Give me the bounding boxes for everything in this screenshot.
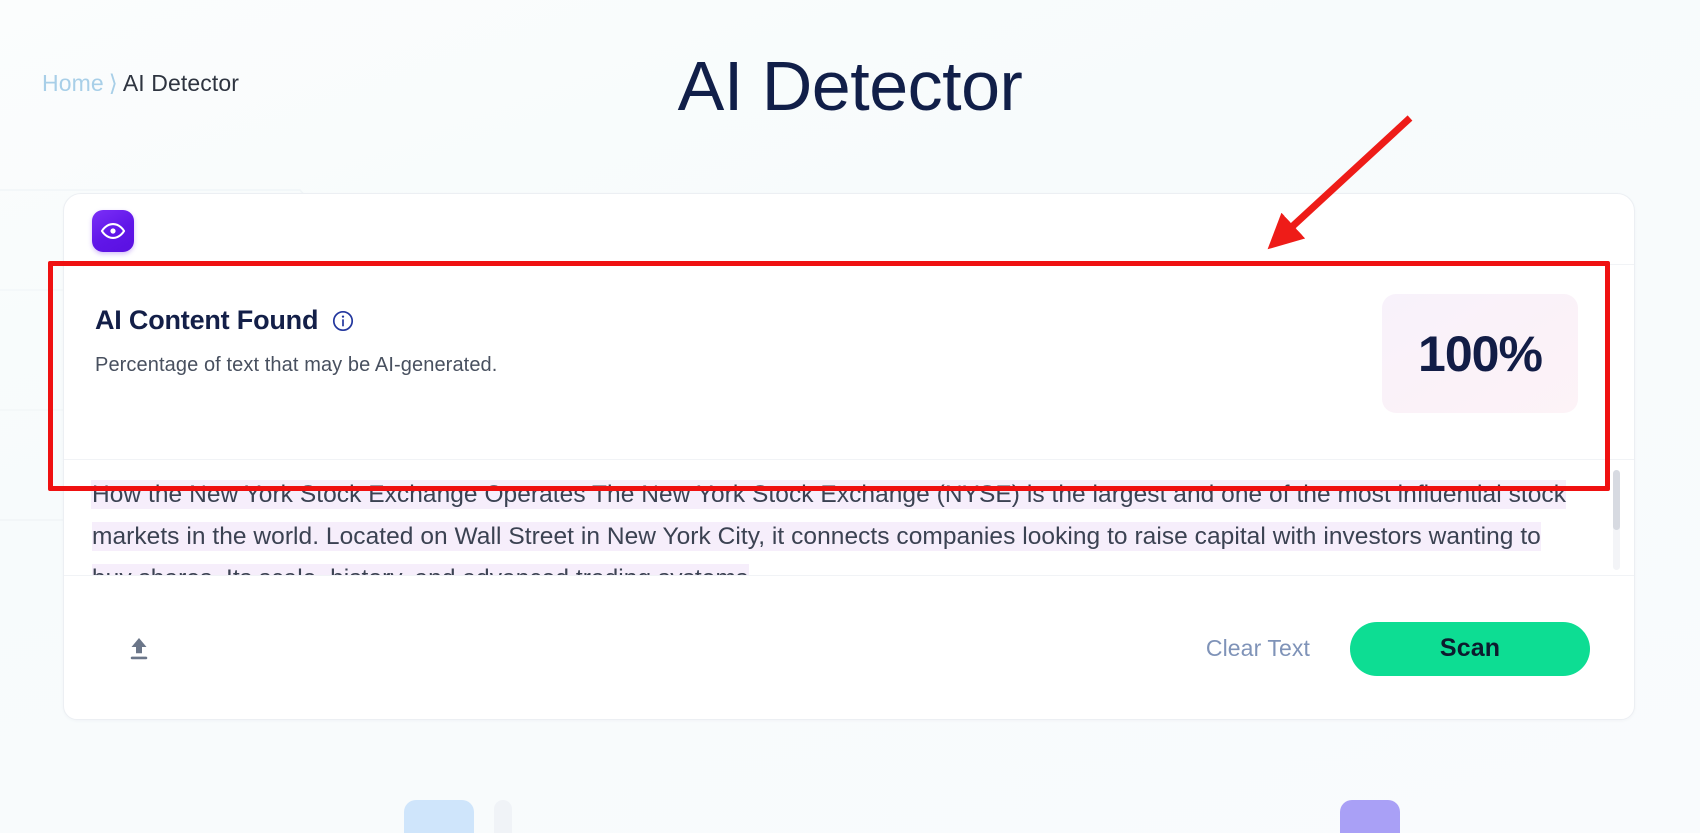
- info-circle-icon[interactable]: [331, 309, 355, 333]
- eye-icon: [92, 210, 134, 252]
- result-text-group: AI Content Found Percentage of text that…: [94, 291, 497, 377]
- footer-actions: Clear Text Scan: [1206, 622, 1590, 676]
- text-scrollbar-thumb[interactable]: [1613, 470, 1620, 530]
- ai-detector-card: AI Content Found Percentage of text that…: [63, 193, 1635, 720]
- page-title: AI Detector: [0, 46, 1700, 126]
- upload-icon[interactable]: [116, 626, 162, 672]
- ai-percentage-badge: 100%: [1382, 294, 1578, 413]
- result-title-row: AI Content Found: [95, 305, 497, 336]
- result-title: AI Content Found: [95, 305, 318, 336]
- next-section-card-peek-1: [404, 800, 474, 833]
- result-subtitle: Percentage of text that may be AI-genera…: [95, 354, 497, 377]
- next-section-card-peek-3: [1340, 800, 1400, 833]
- ai-percentage-value: 100%: [1418, 325, 1542, 383]
- ai-highlighted-text: How the New York Stock Exchange Operates…: [92, 481, 1566, 575]
- scan-button[interactable]: Scan: [1350, 622, 1590, 676]
- next-section-card-peek-2: [494, 800, 512, 833]
- analyzed-text-area[interactable]: How the New York Stock Exchange Operates…: [64, 460, 1634, 575]
- ai-content-found-result-strip: AI Content Found Percentage of text that…: [64, 264, 1634, 460]
- card-footer: Clear Text Scan: [64, 575, 1634, 720]
- card-badge-row: [64, 194, 1634, 264]
- analyzed-text-content: How the New York Stock Exchange Operates…: [92, 474, 1572, 575]
- clear-text-button[interactable]: Clear Text: [1206, 635, 1310, 662]
